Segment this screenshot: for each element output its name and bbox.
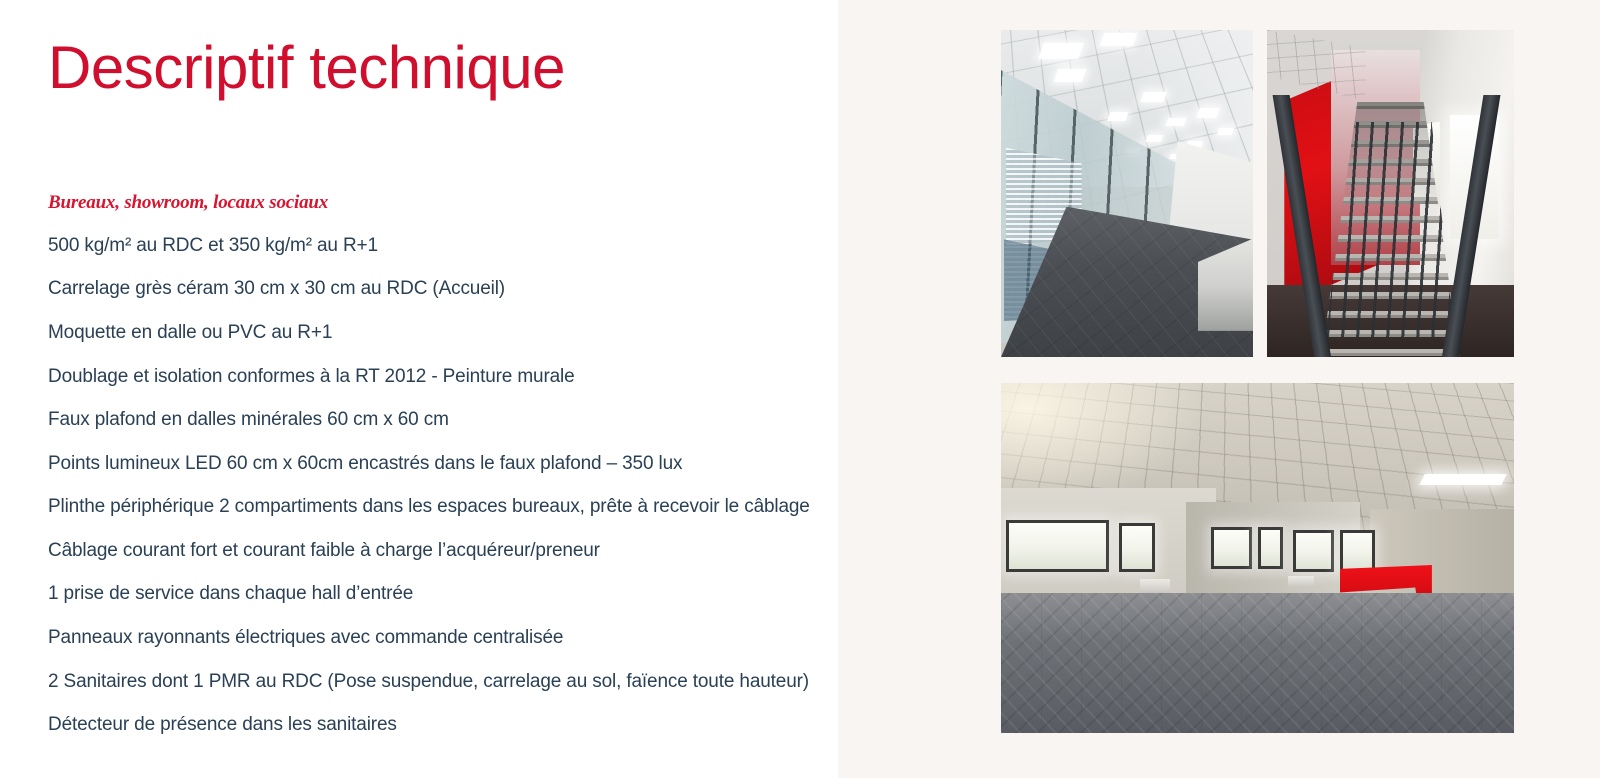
slide-descriptif-technique: Descriptif technique Bureaux, showroom, … — [0, 0, 1600, 778]
window-5 — [1293, 530, 1334, 572]
spec-item-load-bearing: 500 kg/m² au RDC et 350 kg/m² au R+1 — [48, 233, 816, 258]
spec-text: 1 prise de service dans chaque hall d’en… — [48, 583, 413, 604]
open-office-scene — [1001, 383, 1514, 733]
photo-stairwell — [1267, 30, 1514, 357]
photo-open-office — [1001, 383, 1514, 733]
spec-item-false-ceiling: Faux plafond en dalles minérales 60 cm x… — [48, 407, 816, 432]
spec-text: Détecteur de présence dans les sanitaire… — [48, 714, 397, 735]
office-corridor-scene — [1001, 30, 1253, 357]
stairwell-scene — [1267, 30, 1514, 357]
radiator-2 — [1288, 576, 1314, 588]
spec-item-carpet: Moquette en dalle ou PVC au R+1 — [48, 320, 816, 345]
spec-item-radiant-panels: Panneaux rayonnants électriques avec com… — [48, 625, 816, 650]
spec-item-insulation: Doublage et isolation conformes à la RT … — [48, 364, 816, 389]
spec-item-led-lighting: Points lumineux LED 60 cm x 60cm encastr… — [48, 451, 816, 476]
radiator-1 — [1140, 579, 1171, 593]
spec-item-floor-tiles: Carrelage grès céram 30 cm x 30 cm au RD… — [48, 276, 816, 301]
spec-item-skirting-trunking: Plinthe périphérique 2 compartiments dan… — [48, 494, 816, 519]
text-panel: Descriptif technique Bureaux, showroom, … — [0, 0, 838, 778]
window-1 — [1006, 520, 1109, 573]
spec-item-presence-detector: Détecteur de présence dans les sanitaire… — [48, 712, 816, 737]
spec-text: Moquette en dalle ou PVC au R+1 — [48, 322, 332, 343]
carpet-floor — [1001, 593, 1514, 733]
spec-text: Faux plafond en dalles minérales 60 cm x… — [48, 409, 449, 430]
spec-text: Câblage courant fort et courant faible à… — [48, 540, 600, 561]
specifications-block: Bureaux, showroom, locaux sociaux 500 kg… — [48, 192, 816, 737]
strip-light — [1419, 474, 1507, 485]
spec-text: Doublage et isolation conformes à la RT … — [48, 366, 575, 387]
photo-panel — [838, 0, 1600, 778]
page-title: Descriptif technique — [48, 33, 565, 102]
window-4 — [1258, 527, 1284, 569]
window-2 — [1119, 523, 1155, 572]
specifications-subtitle: Bureaux, showroom, locaux sociaux — [48, 192, 816, 215]
spec-text: 500 kg/m² au RDC et 350 kg/m² au R+1 — [48, 235, 378, 256]
photo-office-corridor — [1001, 30, 1253, 357]
spec-item-sanitary: 2 Sanitaires dont 1 PMR au RDC (Pose sus… — [48, 669, 816, 694]
window-6 — [1340, 530, 1376, 572]
spec-text: Panneaux rayonnants électriques avec com… — [48, 627, 563, 648]
spec-text: Points lumineux LED 60 cm x 60cm encastr… — [48, 453, 682, 474]
specifications-list: 500 kg/m² au RDC et 350 kg/m² au R+1 Car… — [48, 233, 816, 737]
window-3 — [1211, 527, 1252, 569]
spec-item-cabling: Câblage courant fort et courant faible à… — [48, 538, 816, 563]
spec-text: Carrelage grès céram 30 cm x 30 cm au RD… — [48, 278, 505, 299]
spec-item-service-socket: 1 prise de service dans chaque hall d’en… — [48, 581, 816, 606]
